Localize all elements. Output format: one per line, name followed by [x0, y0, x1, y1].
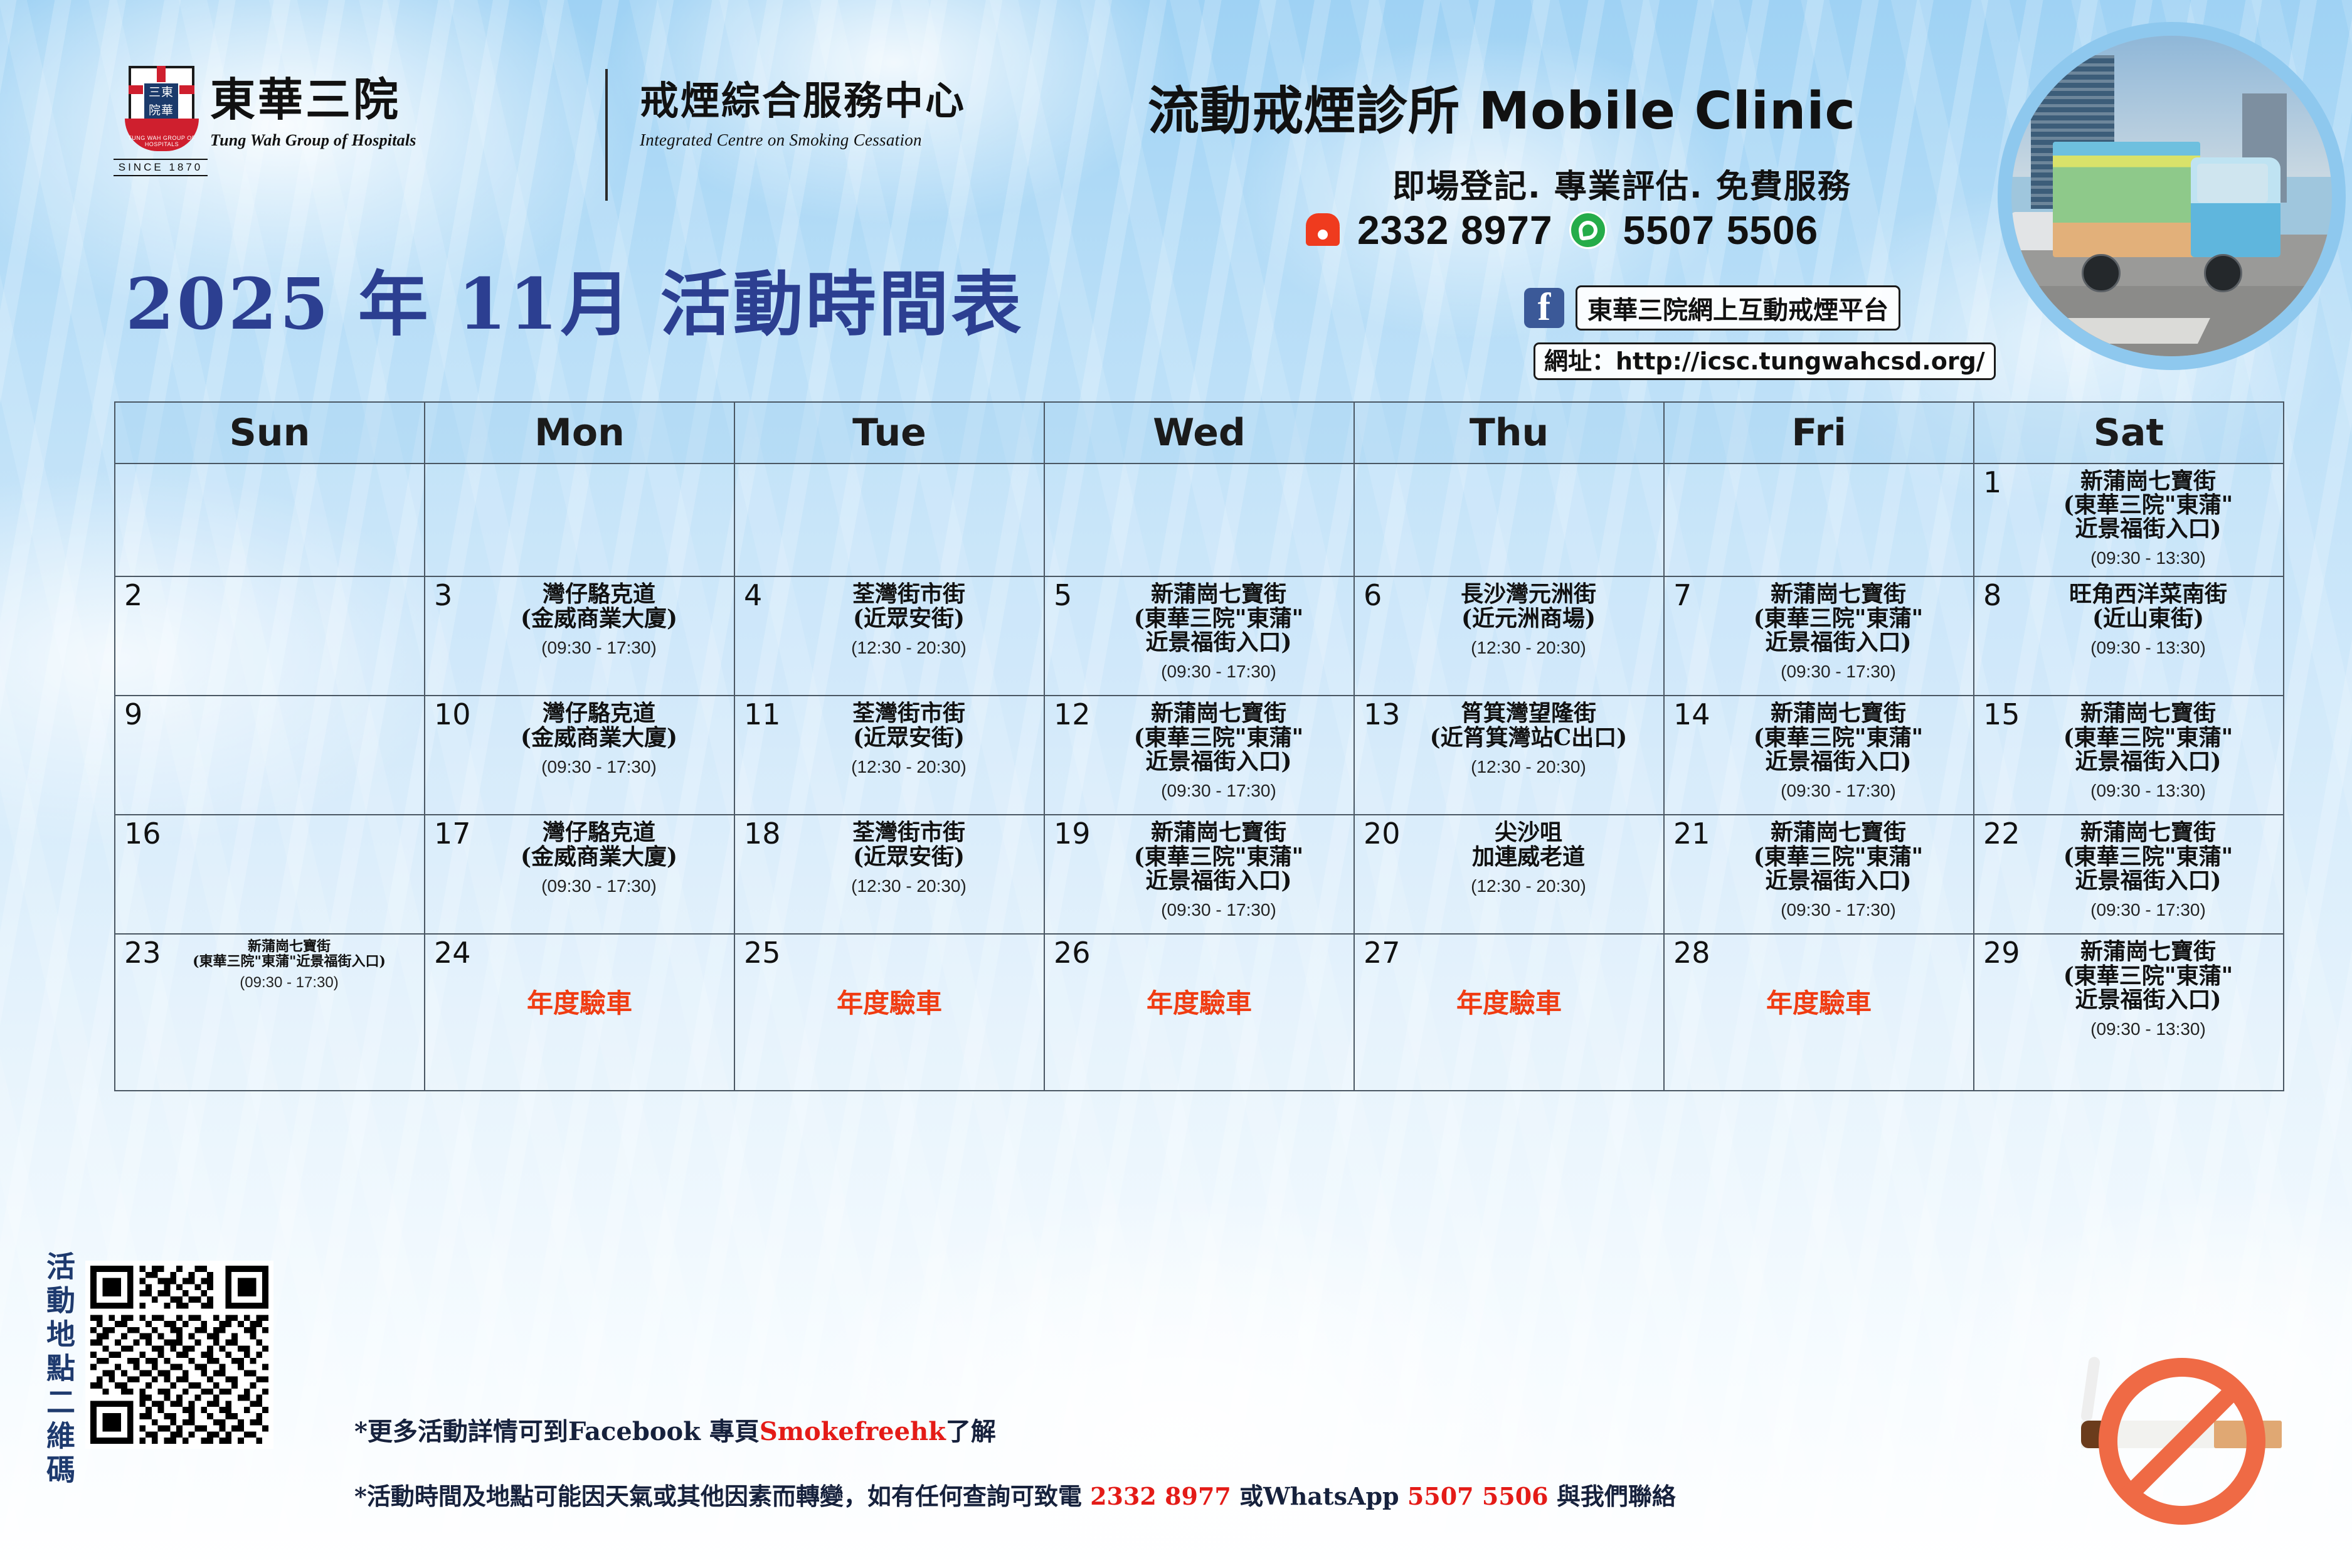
event-time: (09:30 - 17:30) — [1090, 900, 1347, 920]
telephone-number[interactable]: 2332 8977 — [1357, 207, 1553, 253]
day-number: 3 — [434, 581, 452, 610]
event-location-line: (近眾安街) — [780, 845, 1037, 869]
contact-row: 2332 8977 5507 5506 — [1305, 207, 1818, 253]
event-location-line: (東華三院"東蒲" — [2020, 726, 2277, 750]
tung-wah-logo: 三東院華 TUNG WAH GROUP OF HOSPITALS SINCE 1… — [116, 66, 323, 223]
event-location-line: 筲箕灣望隆街 — [1400, 701, 1657, 725]
day-number: 6 — [1364, 581, 1382, 610]
day-number: 14 — [1673, 700, 1710, 729]
day-number: 1 — [1983, 468, 2001, 497]
day-number: 8 — [1983, 581, 2001, 610]
event-location-line: 近景福街入口) — [2020, 869, 2277, 893]
event-location-line: 新蒲崗七寶街 — [2020, 820, 2277, 844]
calendar-day-cell-29[interactable]: 29新蒲崗七寶街(東華三院"東蒲"近景福街入口)(09:30 - 13:30) — [1974, 934, 2284, 1091]
qr-code[interactable] — [85, 1261, 273, 1449]
event-location-line: 新蒲崗七寶街 — [2020, 940, 2277, 963]
event-time: (12:30 - 20:30) — [1400, 638, 1657, 658]
event-time: (09:30 - 17:30) — [470, 876, 728, 896]
day-number: 4 — [744, 581, 762, 610]
event-time: (09:30 - 17:30) — [470, 638, 728, 658]
footnote-disclaimer: *活動時間及地點可能因天氣或其他因素而轉變，如有任何查詢可致電 2332 897… — [354, 1477, 1676, 1512]
crest-characters: 三東院華 — [143, 82, 179, 121]
event-location-line: 新蒲崗七寶街 — [2020, 469, 2277, 493]
event-location-line: (東華三院"東蒲" — [2020, 493, 2277, 517]
event-location-line: 新蒲崗七寶街 — [1090, 820, 1347, 844]
event-location-line: (東華三院"東蒲" — [1710, 845, 1967, 869]
event-time: (09:30 - 17:30) — [2020, 900, 2277, 920]
event-location-line: 新蒲崗七寶街 — [2020, 701, 2277, 725]
event-location: 新蒲崗七寶街(東華三院"東蒲"近景福街入口)(09:30 - 17:30) — [1710, 820, 1967, 919]
since-text: SINCE 1870 — [114, 159, 208, 176]
footnote-disclaimer-mid: 或WhatsApp — [1231, 1482, 1407, 1510]
event-location-line: 荃灣街市街 — [780, 582, 1037, 606]
day-number: 26 — [1054, 938, 1091, 967]
day-number: 22 — [1983, 819, 2020, 848]
event-location: 新蒲崗七寶街(東華三院"東蒲"近景福街入口)(09:30 - 17:30) — [161, 940, 418, 992]
facebook-icon — [1524, 288, 1564, 328]
day-number: 13 — [1364, 700, 1401, 729]
event-time: (12:30 - 20:30) — [780, 757, 1037, 777]
calendar-day-cell-17[interactable]: 17灣仔駱克道(金威商業大廈)(09:30 - 17:30) — [425, 815, 734, 934]
org-name-en: Tung Wah Group of Hospitals — [210, 131, 417, 150]
event-location-line: 荃灣街市街 — [780, 820, 1037, 844]
weekday-header-wed: Wed — [1044, 402, 1354, 464]
calendar-day-cell-1[interactable]: 1新蒲崗七寶街(東華三院"東蒲"近景福街入口)(09:30 - 13:30) — [1974, 464, 2284, 576]
whatsapp-icon — [1569, 211, 1607, 249]
event-location-line: 近景福街入口) — [1710, 630, 1967, 654]
telephone-icon — [1305, 212, 1341, 248]
calendar-day-cell-19[interactable]: 19新蒲崗七寶街(東華三院"東蒲"近景福街入口)(09:30 - 17:30) — [1044, 815, 1354, 934]
event-location-line: 近景福街入口) — [2020, 517, 2277, 541]
event-time: (09:30 - 17:30) — [1710, 781, 1967, 801]
day-number: 15 — [1983, 700, 2020, 729]
event-time: (09:30 - 13:30) — [2020, 781, 2277, 801]
footnote-facebook-page: Smokefreehk — [760, 1417, 946, 1446]
day-number: 10 — [434, 700, 471, 729]
event-location-line: 近景福街入口) — [2020, 750, 2277, 773]
org-name-cn: 東華三院 — [210, 77, 417, 122]
event-location: 灣仔駱克道(金威商業大廈)(09:30 - 17:30) — [470, 582, 728, 657]
day-number: 5 — [1054, 581, 1072, 610]
event-location: 新蒲崗七寶街(東華三院"東蒲"近景福街入口)(09:30 - 17:30) — [1710, 701, 1967, 800]
activity-calendar: SunMonTueWedThuFriSat 1新蒲崗七寶街(東華三院"東蒲"近景… — [114, 401, 2284, 1091]
calendar-week-row: 23灣仔駱克道(金威商業大廈)(09:30 - 17:30)4荃灣街市街(近眾安… — [115, 576, 2284, 696]
event-location: 荃灣街市街(近眾安街)(12:30 - 20:30) — [780, 582, 1037, 657]
event-location: 新蒲崗七寶街(東華三院"東蒲"近景福街入口)(09:30 - 17:30) — [1090, 582, 1347, 681]
event-time: (12:30 - 20:30) — [780, 638, 1037, 658]
calendar-day-cell-2[interactable]: 2 — [115, 576, 425, 696]
event-location: 旺角西洋菜南街(近山東街)(09:30 - 13:30) — [2020, 582, 2277, 657]
event-location-line: 近景福街入口) — [1710, 869, 1967, 893]
event-inspection-label: 年度驗車 — [1671, 940, 1967, 1020]
event-location-line: (近眾安街) — [780, 607, 1037, 630]
weekday-header-sat: Sat — [1974, 402, 2284, 464]
event-location-line: 近景福街入口) — [1090, 750, 1347, 773]
crest-ribbon-text: TUNG WAH GROUP OF HOSPITALS — [125, 119, 199, 147]
event-location: 新蒲崗七寶街(東華三院"東蒲"近景福街入口)(09:30 - 13:30) — [2020, 701, 2277, 800]
footnote-facebook: *更多活動詳情可到Facebook 專頁Smokefreehk了解 — [354, 1411, 996, 1448]
day-number: 28 — [1673, 938, 1710, 967]
event-location-line: (金威商業大廈) — [470, 607, 728, 630]
event-location-line: 新蒲崗七寶街 — [1090, 582, 1347, 606]
qr-code-image — [90, 1266, 268, 1444]
event-location-line: (東華三院"東蒲"近景福街入口) — [161, 955, 418, 969]
event-location: 灣仔駱克道(金威商業大廈)(09:30 - 17:30) — [470, 820, 728, 896]
event-time: (09:30 - 13:30) — [2020, 1019, 2277, 1039]
calendar-day-cell-10[interactable]: 10灣仔駱克道(金威商業大廈)(09:30 - 17:30) — [425, 696, 734, 815]
header-divider — [605, 69, 608, 201]
calendar-week-row: 1新蒲崗七寶街(東華三院"東蒲"近景福街入口)(09:30 - 13:30) — [115, 464, 2284, 576]
day-number: 21 — [1673, 819, 1710, 848]
day-number: 20 — [1364, 819, 1401, 848]
day-number: 11 — [744, 700, 781, 729]
day-number: 19 — [1054, 819, 1091, 848]
calendar-day-cell-22[interactable]: 22新蒲崗七寶街(東華三院"東蒲"近景福街入口)(09:30 - 17:30) — [1974, 815, 2284, 934]
centre-name-cn: 戒煙綜合服務中心 — [640, 82, 966, 120]
calendar-day-cell-13[interactable]: 13筲箕灣望隆街(近筲箕灣站C出口)(12:30 - 20:30) — [1354, 696, 1664, 815]
event-location-line: 近景福街入口) — [1090, 869, 1347, 893]
whatsapp-number[interactable]: 5507 5506 — [1623, 207, 1819, 253]
weekday-header-tue: Tue — [734, 402, 1044, 464]
event-time: (12:30 - 20:30) — [1400, 876, 1657, 896]
calendar-day-cell-9[interactable]: 9 — [115, 696, 425, 815]
event-location-line: (金威商業大廈) — [470, 845, 728, 869]
calendar-day-cell-6[interactable]: 6長沙灣元洲街(近元洲商場)(12:30 - 20:30) — [1354, 576, 1664, 696]
event-location-line: (東華三院"東蒲" — [1710, 726, 1967, 750]
calendar-week-row: 910灣仔駱克道(金威商業大廈)(09:30 - 17:30)11荃灣街市街(近… — [115, 696, 2284, 815]
calendar-day-cell-5[interactable]: 5新蒲崗七寶街(東華三院"東蒲"近景福街入口)(09:30 - 17:30) — [1044, 576, 1354, 696]
calendar-day-cell-11[interactable]: 11荃灣街市街(近眾安街)(12:30 - 20:30) — [734, 696, 1044, 815]
weekday-header-fri: Fri — [1664, 402, 1974, 464]
centre-name-block: 戒煙綜合服務中心 Integrated Centre on Smoking Ce… — [640, 82, 966, 150]
event-location-line: (金威商業大廈) — [470, 726, 728, 750]
event-location-line: (近山東街) — [2020, 607, 2277, 630]
no-smoking-icon — [2063, 1352, 2296, 1559]
calendar-day-cell-empty[interactable] — [734, 464, 1044, 576]
calendar-day-cell-15[interactable]: 15新蒲崗七寶街(東華三院"東蒲"近景福街入口)(09:30 - 13:30) — [1974, 696, 2284, 815]
page-title: 2025 年 11月 活動時間表 — [125, 248, 1024, 349]
calendar-day-cell-23[interactable]: 23新蒲崗七寶街(東華三院"東蒲"近景福街入口)(09:30 - 17:30) — [115, 934, 425, 1091]
calendar-day-cell-8[interactable]: 8旺角西洋菜南街(近山東街)(09:30 - 13:30) — [1974, 576, 2284, 696]
tung-wah-crest-icon: 三東院華 TUNG WAH GROUP OF HOSPITALS — [129, 66, 194, 147]
event-location-line: 灣仔駱克道 — [470, 582, 728, 606]
website-url-label[interactable]: 網址：http://icsc.tungwahcsd.org/ — [1534, 342, 1996, 380]
event-location-line: 旺角西洋菜南街 — [2020, 582, 2277, 606]
event-location: 新蒲崗七寶街(東華三院"東蒲"近景福街入口)(09:30 - 13:30) — [2020, 469, 2277, 568]
event-location-line: (東華三院"東蒲" — [1710, 607, 1967, 630]
event-location-line: 近景福街入口) — [1710, 750, 1967, 773]
facebook-row[interactable]: 東華三院網上互動戒煙平台 — [1524, 285, 1900, 331]
centre-name-en: Integrated Centre on Smoking Cessation — [640, 130, 966, 150]
calendar-week-row: 1617灣仔駱克道(金威商業大廈)(09:30 - 17:30)18荃灣街市街(… — [115, 815, 2284, 934]
day-number: 27 — [1364, 938, 1401, 967]
event-location-line: 新蒲崗七寶街 — [1090, 701, 1347, 725]
day-number: 7 — [1673, 581, 1692, 610]
event-location: 新蒲崗七寶街(東華三院"東蒲"近景福街入口)(09:30 - 13:30) — [2020, 940, 2277, 1039]
day-number: 25 — [744, 938, 781, 967]
calendar-day-cell-14[interactable]: 14新蒲崗七寶街(東華三院"東蒲"近景福街入口)(09:30 - 17:30) — [1664, 696, 1974, 815]
event-location-line: (東華三院"東蒲" — [1090, 607, 1347, 630]
event-time: (09:30 - 17:30) — [1710, 900, 1967, 920]
event-location: 新蒲崗七寶街(東華三院"東蒲"近景福街入口)(09:30 - 17:30) — [2020, 820, 2277, 919]
calendar-day-cell-empty[interactable] — [1354, 464, 1664, 576]
event-location: 新蒲崗七寶街(東華三院"東蒲"近景福街入口)(09:30 - 17:30) — [1710, 582, 1967, 681]
event-inspection-label: 年度驗車 — [1361, 940, 1657, 1020]
event-location-line: 尖沙咀 — [1400, 820, 1657, 844]
event-time: (12:30 - 20:30) — [780, 876, 1037, 896]
footnote-disclaimer-a: *活動時間及地點可能因天氣或其他因素而轉變，如有任何查詢可致電 — [354, 1482, 1090, 1510]
calendar-day-cell-27[interactable]: 27年度驗車 — [1354, 934, 1664, 1091]
mobile-clinic-title: 流動戒煙診所 Mobile Clinic — [1148, 69, 1856, 144]
event-time: (09:30 - 17:30) — [1090, 662, 1347, 682]
calendar-day-cell-empty[interactable] — [115, 464, 425, 576]
calendar-day-cell-18[interactable]: 18荃灣街市街(近眾安街)(12:30 - 20:30) — [734, 815, 1044, 934]
calendar-day-cell-empty[interactable] — [1664, 464, 1974, 576]
day-number: 23 — [124, 938, 161, 967]
calendar-header-row: SunMonTueWedThuFriSat — [115, 402, 2284, 464]
calendar-day-cell-28[interactable]: 28年度驗車 — [1664, 934, 1974, 1091]
event-location: 灣仔駱克道(金威商業大廈)(09:30 - 17:30) — [470, 701, 728, 776]
event-inspection-label: 年度驗車 — [432, 940, 728, 1020]
calendar-day-cell-empty[interactable] — [425, 464, 734, 576]
event-location: 長沙灣元洲街(近元洲商場)(12:30 - 20:30) — [1400, 582, 1657, 657]
day-number: 16 — [124, 819, 161, 848]
event-location-line: 灣仔駱克道 — [470, 701, 728, 725]
event-time: (09:30 - 13:30) — [2020, 548, 2277, 568]
calendar-day-cell-3[interactable]: 3灣仔駱克道(金威商業大廈)(09:30 - 17:30) — [425, 576, 734, 696]
event-location-line: 新蒲崗七寶街 — [1710, 701, 1967, 725]
event-inspection-label: 年度驗車 — [1051, 940, 1347, 1020]
event-time: (09:30 - 17:30) — [470, 757, 728, 777]
qr-label: 活動地點二維碼 — [38, 1251, 74, 1488]
day-number: 2 — [124, 581, 142, 610]
day-number: 17 — [434, 819, 471, 848]
calendar-day-cell-12[interactable]: 12新蒲崗七寶街(東華三院"東蒲"近景福街入口)(09:30 - 17:30) — [1044, 696, 1354, 815]
event-location-line: 灣仔駱克道 — [470, 820, 728, 844]
event-location-line: 近景福街入口) — [2020, 988, 2277, 1012]
weekday-header-sun: Sun — [115, 402, 425, 464]
day-number: 9 — [124, 700, 142, 729]
day-number: 24 — [434, 938, 471, 967]
event-location: 新蒲崗七寶街(東華三院"東蒲"近景福街入口)(09:30 - 17:30) — [1090, 701, 1347, 800]
footnote-whatsapp: 5507 5506 — [1407, 1482, 1549, 1510]
mobile-clinic-photo — [1998, 22, 2346, 370]
event-location: 尖沙咀加連威老道(12:30 - 20:30) — [1400, 820, 1657, 896]
calendar-day-cell-26[interactable]: 26年度驗車 — [1044, 934, 1354, 1091]
event-location-line: 新蒲崗七寶街 — [1710, 820, 1967, 844]
event-location-line: (近元洲商場) — [1400, 607, 1657, 630]
mobile-clinic-subtitle: 即場登記. 專業評估. 免費服務 — [1392, 160, 1851, 207]
event-location: 筲箕灣望隆街(近筲箕灣站C出口)(12:30 - 20:30) — [1400, 701, 1657, 776]
event-location-line: 新蒲崗七寶街 — [1710, 582, 1967, 606]
calendar-day-cell-21[interactable]: 21新蒲崗七寶街(東華三院"東蒲"近景福街入口)(09:30 - 17:30) — [1664, 815, 1974, 934]
day-number: 18 — [744, 819, 781, 848]
event-location-line: (近眾安街) — [780, 726, 1037, 750]
event-time: (09:30 - 17:30) — [1090, 781, 1347, 801]
calendar-day-cell-7[interactable]: 7新蒲崗七寶街(東華三院"東蒲"近景福街入口)(09:30 - 17:30) — [1664, 576, 1974, 696]
event-location: 荃灣街市街(近眾安街)(12:30 - 20:30) — [780, 820, 1037, 896]
weekday-header-thu: Thu — [1354, 402, 1664, 464]
footnote-tel: 2332 8977 — [1090, 1482, 1231, 1510]
facebook-page-label[interactable]: 東華三院網上互動戒煙平台 — [1576, 285, 1900, 331]
event-location-line: 加連威老道 — [1400, 845, 1657, 869]
footnote-disclaimer-b: 與我們聯絡 — [1549, 1482, 1676, 1510]
calendar-day-cell-24[interactable]: 24年度驗車 — [425, 934, 734, 1091]
event-location: 荃灣街市街(近眾安街)(12:30 - 20:30) — [780, 701, 1037, 776]
day-number: 29 — [1983, 938, 2020, 967]
event-location: 新蒲崗七寶街(東華三院"東蒲"近景福街入口)(09:30 - 17:30) — [1090, 820, 1347, 919]
calendar-day-cell-4[interactable]: 4荃灣街市街(近眾安街)(12:30 - 20:30) — [734, 576, 1044, 696]
event-location-line: (東華三院"東蒲" — [1090, 726, 1347, 750]
event-time: (09:30 - 13:30) — [2020, 638, 2277, 658]
event-location-line: (東華三院"東蒲" — [2020, 845, 2277, 869]
calendar-day-cell-25[interactable]: 25年度驗車 — [734, 934, 1044, 1091]
event-time: (12:30 - 20:30) — [1400, 757, 1657, 777]
event-location-line: 長沙灣元洲街 — [1400, 582, 1657, 606]
calendar-day-cell-16[interactable]: 16 — [115, 815, 425, 934]
event-location-line: (近筲箕灣站C出口) — [1400, 726, 1657, 750]
day-number: 12 — [1054, 700, 1091, 729]
calendar-day-cell-empty[interactable] — [1044, 464, 1354, 576]
event-location-line: 近景福街入口) — [1090, 630, 1347, 654]
event-location-line: (東華三院"東蒲" — [1090, 845, 1347, 869]
event-inspection-label: 年度驗車 — [741, 940, 1037, 1020]
event-location-line: 荃灣街市街 — [780, 701, 1037, 725]
footnote-facebook-b: 了解 — [946, 1417, 996, 1446]
website-row[interactable]: 網址：http://icsc.tungwahcsd.org/ — [1534, 342, 1996, 376]
event-location-line: 新蒲崗七寶街 — [161, 940, 418, 954]
event-location-line: (東華三院"東蒲" — [2020, 964, 2277, 988]
event-time: (09:30 - 17:30) — [161, 974, 418, 992]
weekday-header-mon: Mon — [425, 402, 734, 464]
footnote-facebook-a: *更多活動詳情可到Facebook 專頁 — [354, 1417, 760, 1446]
calendar-day-cell-20[interactable]: 20尖沙咀加連威老道(12:30 - 20:30) — [1354, 815, 1664, 934]
event-time: (09:30 - 17:30) — [1710, 662, 1967, 682]
calendar-week-row: 23新蒲崗七寶街(東華三院"東蒲"近景福街入口)(09:30 - 17:30)2… — [115, 934, 2284, 1091]
